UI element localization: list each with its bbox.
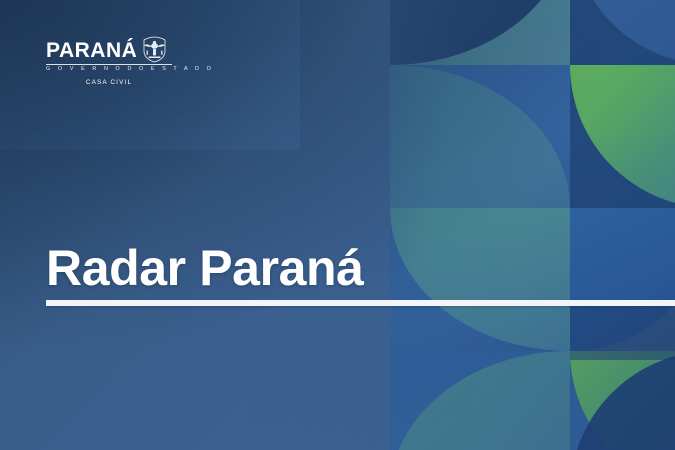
logo-wordmark-row: PARANÁ xyxy=(46,36,172,61)
logo-tagline: G O V E R N O D O E S T A D O xyxy=(46,67,172,72)
logo-divider xyxy=(46,64,172,65)
title-block: Radar Paraná xyxy=(0,243,675,293)
logo-wordmark: PARANÁ xyxy=(46,40,137,61)
parana-coat-of-arms-icon xyxy=(142,36,167,63)
title-underline-rule xyxy=(46,300,675,306)
parana-government-logo: PARANÁ G O V E R N xyxy=(46,36,172,86)
page-title: Radar Paraná xyxy=(46,243,675,293)
logo-unit-label: CASA CIVIL xyxy=(46,79,172,86)
radar-parana-banner: PARANÁ G O V E R N xyxy=(0,0,675,450)
